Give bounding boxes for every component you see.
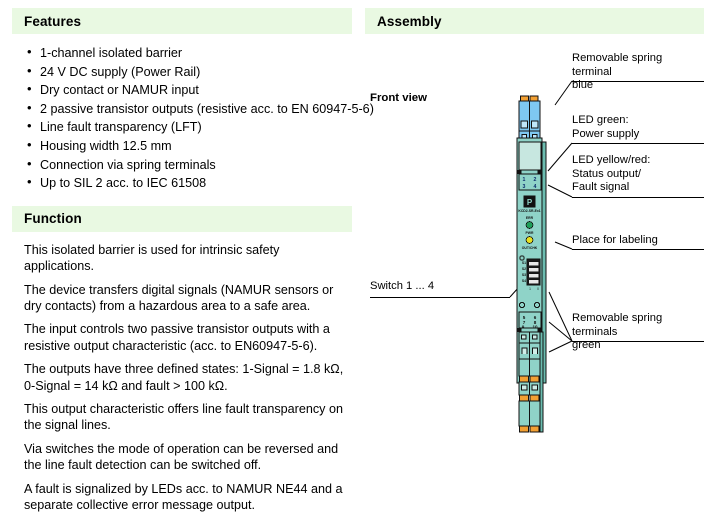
led-label-pwr: PWR (526, 231, 534, 235)
assembly-title: Assembly (377, 14, 442, 29)
terminal-number: 10 (532, 325, 538, 330)
assembly-diagram: Front view Removable spring terminal blu… (365, 34, 704, 454)
brand-logo: P (527, 198, 533, 207)
dip-label: S4 (522, 279, 526, 283)
paragraph: This isolated barrier is used for intrin… (24, 242, 346, 275)
list-item: 2 passive transistor outputs (resistive … (26, 100, 352, 119)
list-item: Line fault transparency (LFT) (26, 118, 352, 137)
right-column: Assembly Front view Removable spring ter… (365, 8, 704, 454)
dip-label: S1 (522, 261, 526, 265)
dip-scale: 1 (529, 287, 531, 291)
features-title: Features (24, 14, 81, 29)
paragraph: A fault is signalized by LEDs acc. to NA… (24, 481, 346, 514)
function-title: Function (24, 211, 82, 226)
led-label-err: ERR (526, 216, 534, 220)
datasheet-page: Features 1-channel isolated barrier 24 V… (0, 0, 704, 471)
paragraph: The outputs have three defined states: 1… (24, 361, 346, 394)
function-section-header: Function (12, 206, 352, 232)
list-item: Up to SIL 2 acc. to IEC 61508 (26, 174, 352, 193)
terminal-number: 3 (523, 184, 526, 190)
features-list: 1-channel isolated barrier 24 V DC suppl… (12, 44, 352, 193)
dip-label: S2 (522, 267, 526, 271)
features-section-header: Features (12, 8, 352, 34)
terminal-number: 1 (523, 177, 526, 183)
assembly-section-header: Assembly (365, 8, 704, 34)
device-front-view: 1 2 3 4 5 6 7 8 9 10 KCD2-SR-Ex1 (508, 92, 570, 437)
function-body: This isolated barrier is used for intrin… (12, 242, 352, 514)
list-item: Dry contact or NAMUR input (26, 81, 352, 100)
dip-label: S3 (522, 273, 526, 277)
terminal-number: 4 (534, 184, 537, 190)
terminal-number: 9 (522, 325, 525, 330)
device-model-text: KCD2-SR-Ex1 (518, 209, 540, 213)
terminal-number: 2 (534, 177, 537, 183)
list-item: 1-channel isolated barrier (26, 44, 352, 63)
paragraph: This output characteristic offers line f… (24, 401, 346, 434)
list-item: 24 V DC supply (Power Rail) (26, 63, 352, 82)
led-label-out: OUT/CHK (522, 246, 538, 250)
dip-scale: 0 (537, 287, 539, 291)
device-svg: 1 2 3 4 5 6 7 8 9 10 KCD2-SR-Ex1 (508, 92, 570, 437)
paragraph: The input controls two passive transisto… (24, 321, 346, 354)
left-column: Features 1-channel isolated barrier 24 V… (12, 8, 352, 520)
paragraph: The device transfers digital signals (NA… (24, 282, 346, 315)
paragraph: Via switches the mode of operation can b… (24, 441, 346, 474)
list-item: Connection via spring terminals (26, 156, 352, 175)
list-item: Housing width 12.5 mm (26, 137, 352, 156)
